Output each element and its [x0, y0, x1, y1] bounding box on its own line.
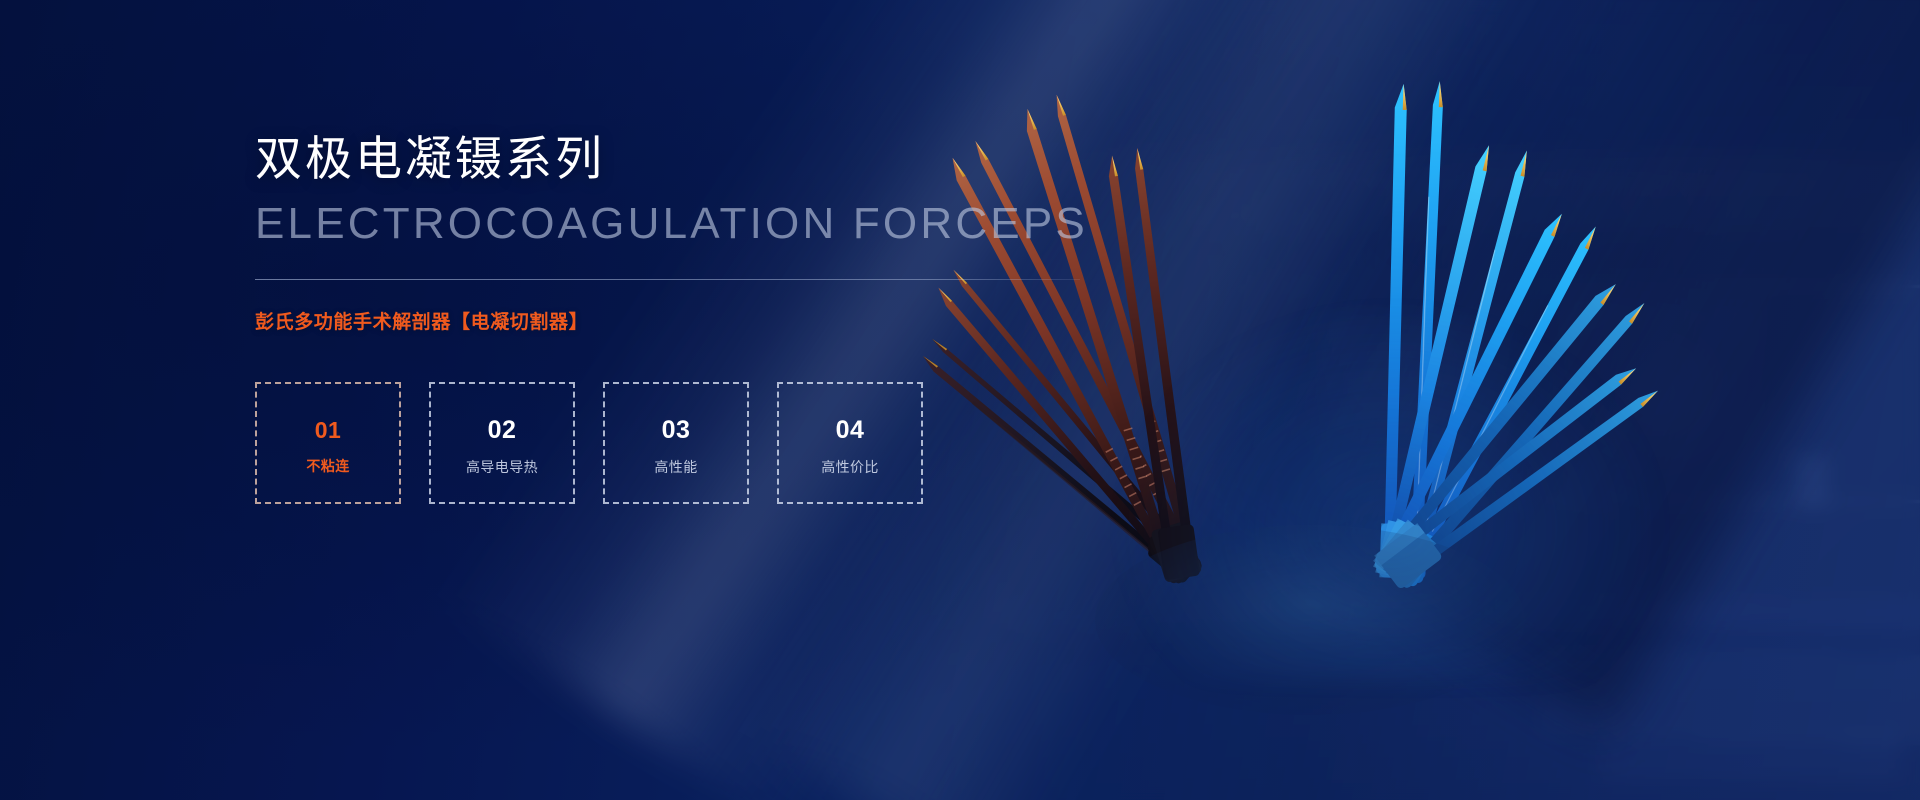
feature-card-03[interactable]: 03 高性能: [603, 382, 749, 504]
feature-number: 01: [315, 419, 342, 442]
page-title-english: ELECTROCOAGULATION FORCEPS: [255, 201, 1115, 247]
feature-label: 高性能: [654, 460, 697, 474]
product-hero-banner: 双极电凝镊系列 ELECTROCOAGULATION FORCEPS 彭氏多功能…: [0, 0, 1920, 800]
feature-card-02[interactable]: 02 高导电导热: [429, 382, 575, 504]
feature-label: 高导电导热: [466, 460, 538, 474]
feature-number: 02: [488, 418, 517, 443]
product-subtitle: 彭氏多功能手术解剖器【电凝切割器】: [255, 307, 1115, 334]
page-title-chinese: 双极电凝镊系列: [255, 130, 1115, 189]
feature-number: 03: [662, 418, 691, 443]
feature-card-04[interactable]: 04 高性价比: [777, 382, 923, 504]
feature-card-01[interactable]: 01 不粘连: [255, 382, 401, 504]
feature-label: 不粘连: [306, 459, 349, 473]
feature-number: 04: [836, 418, 865, 443]
banner-content: 双极电凝镊系列 ELECTROCOAGULATION FORCEPS 彭氏多功能…: [255, 130, 1115, 504]
feature-label: 高性价比: [821, 460, 879, 474]
title-divider: [255, 279, 1080, 280]
feature-list: 01 不粘连 02 高导电导热 03 高性能 04 高性价比: [255, 382, 1115, 504]
